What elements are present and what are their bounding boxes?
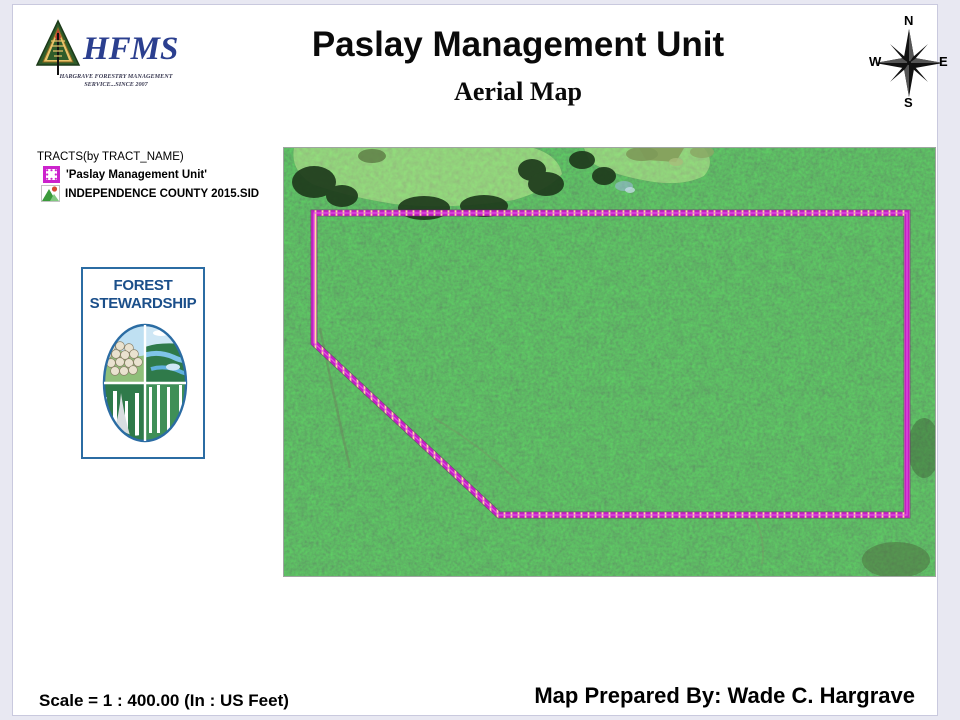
scale-label: Scale = 1 : 400.00 (In : US Feet) <box>39 691 289 711</box>
forest-stewardship-circle-emblem <box>99 321 191 445</box>
legend-item-tract[interactable]: 'Paslay Management Unit' <box>37 166 273 183</box>
legend: TRACTS(by TRACT_NAME) 'Paslay Management… <box>37 151 273 202</box>
polygon-outline-swatch-icon <box>43 166 60 183</box>
hfms-wordmark: HFMS <box>83 31 178 68</box>
fs-line-1: FOREST <box>83 277 203 295</box>
compass-label-east: E <box>939 54 948 69</box>
fs-line-2: STEWARDSHIP <box>83 295 203 313</box>
map-viewport[interactable] <box>283 147 936 577</box>
prepared-by-label: Map Prepared By: Wade C. Hargrave <box>534 683 915 709</box>
page-background: HFMS HARGRAVE FORESTRY MANAGEMENT SERVIC… <box>0 0 960 720</box>
hfms-logo: HFMS HARGRAVE FORESTRY MANAGEMENT SERVIC… <box>35 19 195 91</box>
hfms-tagline: HARGRAVE FORESTRY MANAGEMENT SERVICE...S… <box>37 73 195 89</box>
legend-item-sid-label: INDEPENDENCE COUNTY 2015.SID <box>65 188 259 200</box>
compass-label-west: W <box>869 54 881 69</box>
raster-image-icon <box>41 185 60 202</box>
forest-stewardship-text: FOREST STEWARDSHIP <box>83 277 203 313</box>
compass-label-north: N <box>904 13 913 28</box>
compass-rose: N S W E <box>869 13 949 113</box>
legend-title: TRACTS(by TRACT_NAME) <box>37 151 273 163</box>
forestry-triangle-tree-icon <box>35 19 81 75</box>
forest-stewardship-logo: FOREST STEWARDSHIP <box>81 267 205 459</box>
aerial-forest-imagery[interactable] <box>284 148 936 577</box>
map-sheet: HFMS HARGRAVE FORESTRY MANAGEMENT SERVIC… <box>12 4 938 716</box>
compass-label-south: S <box>904 95 913 110</box>
page-title: Paslay Management Unit <box>203 25 833 65</box>
page-subtitle: Aerial Map <box>203 77 833 107</box>
legend-item-tract-label: 'Paslay Management Unit' <box>66 169 207 181</box>
legend-item-sid[interactable]: INDEPENDENCE COUNTY 2015.SID <box>37 185 273 202</box>
